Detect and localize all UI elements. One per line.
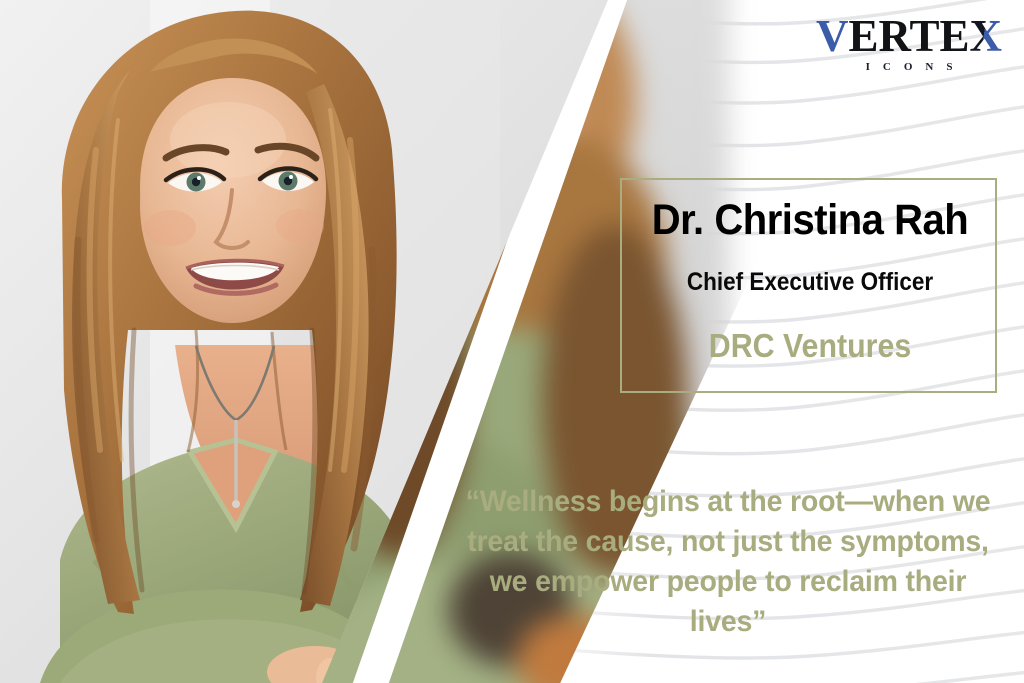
speaker-profile-card: VERTEX ICONS Dr. Christina Rah Chief Exe… [0,0,1024,683]
speaker-company: DRC Ventures [628,327,992,365]
logo-letter-v: V [816,11,849,61]
logo-letter-x: X [970,11,1003,61]
speaker-name: Dr. Christina Rah [626,196,994,245]
speaker-quote: “Wellness begins at the root—when we tre… [462,482,994,642]
speaker-role: Chief Executive Officer [632,268,988,297]
vertex-icons-logo: VERTEX ICONS [816,14,1002,73]
logo-letters-middle: ERTE [849,11,970,61]
logo-wordmark: VERTEX [816,14,1002,59]
logo-subtitle: ICONS [816,62,1015,73]
